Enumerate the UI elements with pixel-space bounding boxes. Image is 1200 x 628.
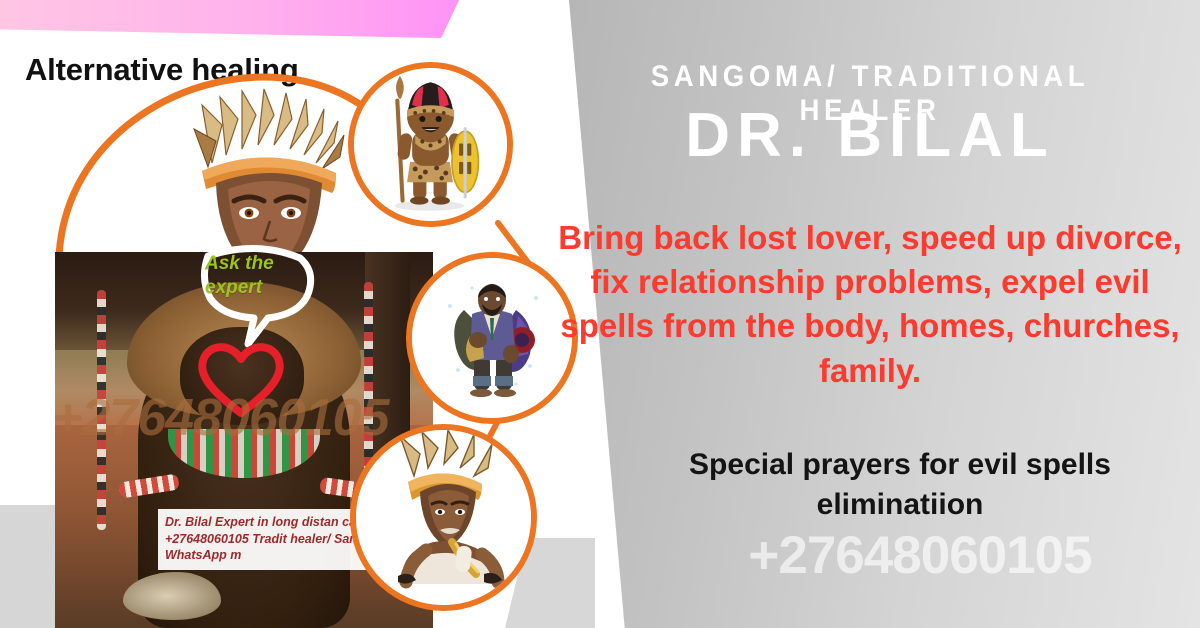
heart-icon bbox=[195, 337, 287, 419]
special-prayers-text: Special prayers for evil spells eliminat… bbox=[610, 445, 1190, 524]
gray-strip-left bbox=[0, 505, 58, 628]
circle-zulu-warrior bbox=[348, 62, 513, 227]
pink-gradient-bar bbox=[0, 0, 460, 38]
speech-bubble-text: Ask the expert bbox=[205, 252, 325, 299]
cloaked-healer-icon bbox=[412, 258, 572, 418]
photo-bead-strand-left bbox=[97, 290, 106, 531]
zulu-warrior-icon bbox=[354, 68, 507, 221]
circle-crouching-sangoma bbox=[350, 424, 537, 611]
services-text: Bring back lost lover, speed up divorce,… bbox=[552, 216, 1188, 393]
doctor-name: DR. BILAL bbox=[560, 103, 1180, 168]
page-title: Alternative healing bbox=[25, 52, 299, 88]
crouching-sangoma-icon bbox=[356, 430, 531, 605]
poster: Alternative healing bbox=[0, 0, 1200, 628]
